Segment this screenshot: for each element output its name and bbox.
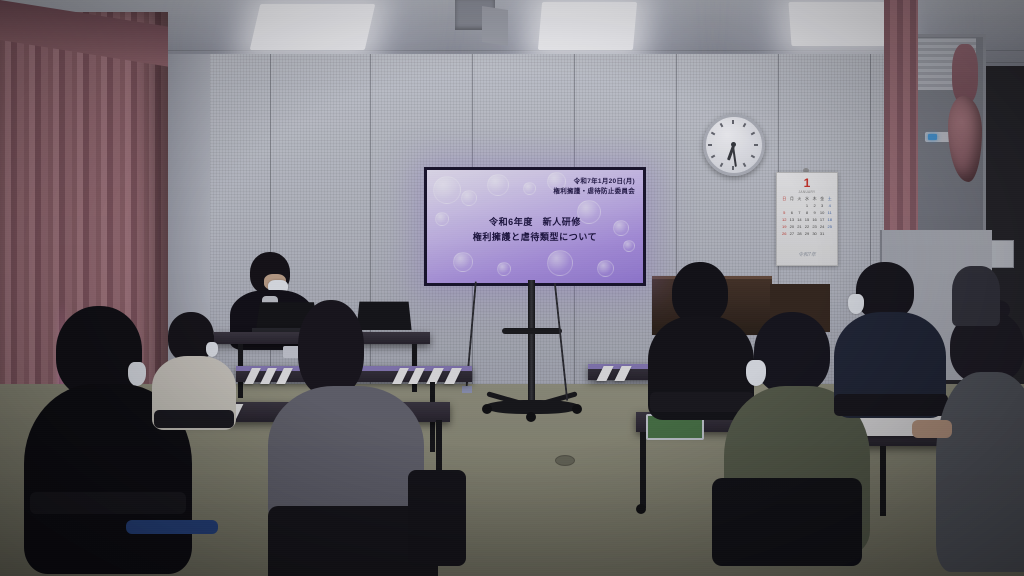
chair-frame-blue	[126, 520, 218, 534]
device-led-indicator	[928, 134, 937, 140]
calendar-day: 2	[811, 203, 818, 209]
stand-caster	[526, 412, 536, 422]
slide-header-committee: 権利擁護・虐待防止委員会	[553, 187, 635, 197]
calendar-day: 30	[811, 231, 818, 237]
calendar-day: 24	[819, 224, 826, 230]
table-leg	[880, 446, 886, 516]
calendar-weekday-header: 木	[811, 196, 818, 202]
attendee-partial-right-edge	[952, 266, 1000, 326]
calendar-day: 17	[819, 217, 826, 223]
calendar-day	[781, 203, 788, 209]
ceiling-light-3	[788, 2, 891, 46]
display-stand-shelf	[502, 328, 562, 334]
calendar-day	[826, 231, 833, 237]
bag-on-floor	[408, 470, 466, 566]
calendar-day	[796, 203, 803, 209]
calendar-weekday-header: 火	[796, 196, 803, 202]
calendar-day: 26	[781, 231, 788, 237]
calendar-day: 21	[796, 224, 803, 230]
calendar-day: 25	[826, 224, 833, 230]
calendar-day: 22	[804, 224, 811, 230]
calendar-day	[789, 203, 796, 209]
display-stand-pole	[528, 280, 535, 405]
chair-right-front	[712, 478, 862, 566]
attendee-mask	[746, 360, 766, 386]
attendee-body	[936, 372, 1024, 572]
wall-calendar: 1 JANUARY 日月火水木金土12345678910111213141516…	[776, 172, 838, 266]
second-laptop[interactable]	[356, 302, 411, 330]
chair-back	[30, 492, 186, 514]
chair-back	[154, 410, 234, 428]
calendar-weekday-header: 金	[819, 196, 826, 202]
projection-display[interactable]: 令和7年1月20日(月) 権利擁護・虐待防止委員会 令和6年度 新人研修 権利擁…	[424, 167, 646, 286]
calendar-day: 23	[811, 224, 818, 230]
table-leg	[640, 432, 646, 508]
stand-caster	[482, 404, 492, 414]
calendar-day: 11	[826, 210, 833, 216]
attendee-hand	[912, 420, 952, 438]
slide-header: 令和7年1月20日(月) 権利擁護・虐待防止委員会	[553, 177, 635, 197]
table-caster	[636, 504, 646, 514]
calendar-day: 29	[804, 231, 811, 237]
slide-title: 令和6年度 新人研修 権利擁護と虐待類型について	[427, 215, 643, 245]
calendar-day: 9	[811, 210, 818, 216]
calendar-weekday-header: 土	[826, 196, 833, 202]
calendar-footer: 令和7年	[777, 251, 837, 258]
calendar-day: 27	[789, 231, 796, 237]
calendar-day: 10	[819, 210, 826, 216]
ceiling-light-1	[250, 4, 376, 50]
calendar-month-subtitle: JANUARY	[777, 190, 837, 194]
calendar-day: 5	[781, 210, 788, 216]
slide-title-line1: 令和6年度 新人研修	[427, 215, 643, 230]
calendar-day: 15	[804, 217, 811, 223]
calendar-weekday-header: 水	[804, 196, 811, 202]
ceiling-vent	[482, 6, 508, 46]
slide-header-date: 令和7年1月20日(月)	[553, 177, 635, 187]
calendar-weekday-header: 日	[781, 196, 788, 202]
attendee-mask	[848, 294, 864, 314]
clock-center-pin	[731, 142, 736, 147]
photo-scene: 1 JANUARY 日月火水木金土12345678910111213141516…	[0, 0, 1024, 576]
calendar-day: 14	[796, 217, 803, 223]
calendar-month-number: 1	[777, 177, 837, 189]
calendar-day: 8	[804, 210, 811, 216]
stand-caster	[572, 404, 582, 414]
clock-minute-hand	[732, 146, 737, 167]
ceiling-light-2	[538, 2, 637, 50]
calendar-day: 13	[789, 217, 796, 223]
calendar-day: 6	[789, 210, 796, 216]
calendar-day: 31	[819, 231, 826, 237]
cable-adapter	[462, 386, 472, 393]
calendar-day: 1	[804, 203, 811, 209]
calendar-day: 19	[781, 224, 788, 230]
calendar-day: 7	[796, 210, 803, 216]
attendee-mask	[128, 362, 146, 386]
chair-back	[834, 394, 948, 416]
attendee-head	[754, 312, 830, 394]
calendar-day: 18	[826, 217, 833, 223]
calendar-day: 20	[789, 224, 796, 230]
calendar-day: 28	[796, 231, 803, 237]
slide-surface: 令和7年1月20日(月) 権利擁護・虐待防止委員会 令和6年度 新人研修 権利擁…	[427, 170, 643, 283]
attendee-mask	[206, 342, 218, 357]
calendar-grid: 日月火水木金土123456789101112131415161718192021…	[781, 196, 833, 237]
calendar-day: 3	[819, 203, 826, 209]
attendee-head	[672, 262, 728, 324]
slide-title-line2: 権利擁護と虐待類型について	[427, 230, 643, 245]
floor-outlet-cover	[555, 455, 575, 466]
calendar-day: 12	[781, 217, 788, 223]
wall-clock	[703, 114, 765, 176]
curtain-tie-upper	[952, 44, 978, 104]
calendar-day: 16	[811, 217, 818, 223]
attendee-head	[298, 300, 364, 396]
calendar-day: 4	[826, 203, 833, 209]
calendar-weekday-header: 月	[789, 196, 796, 202]
